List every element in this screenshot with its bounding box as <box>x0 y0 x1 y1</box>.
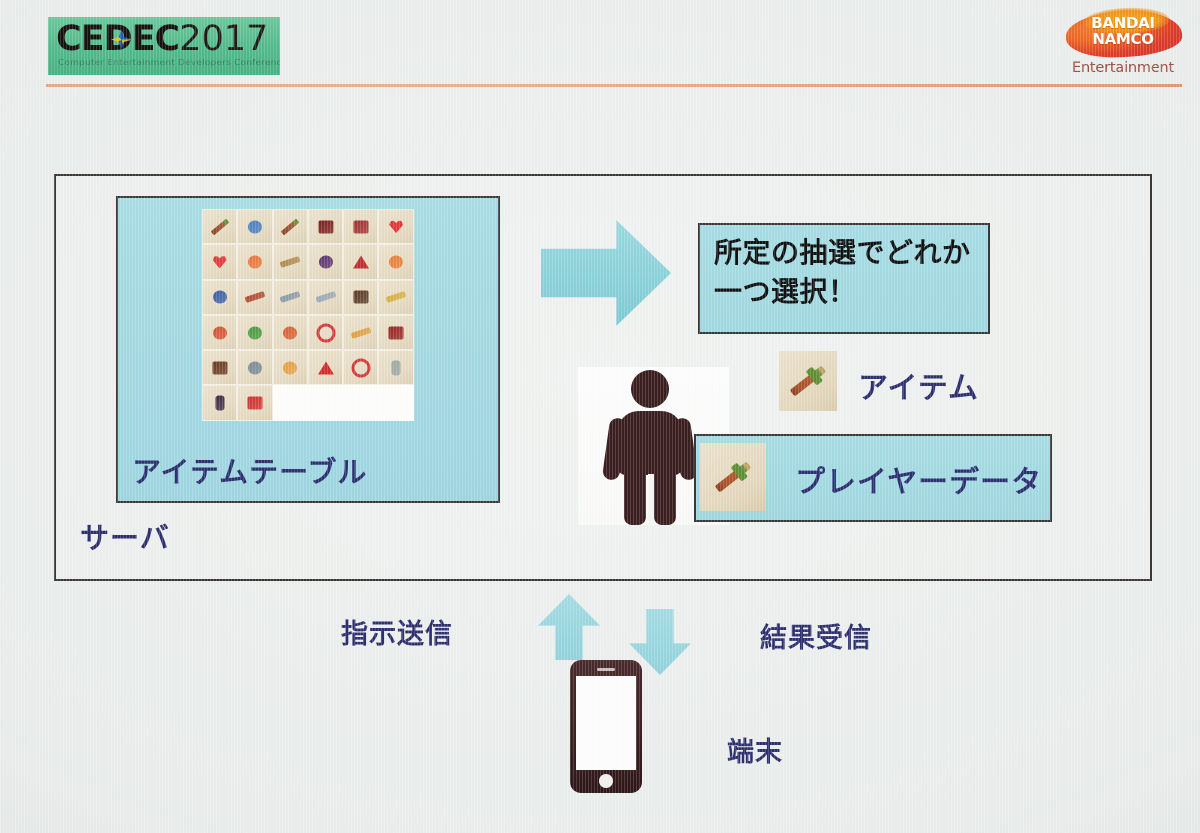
red-orb-cluster-icon <box>213 326 227 339</box>
arrow-shape <box>541 218 671 328</box>
item-cell-gray-tool <box>273 280 308 315</box>
dark-red-book-icon <box>318 220 333 233</box>
send-instruction-label: 指示送信 <box>341 612 453 651</box>
receive-result-label: 結果受信 <box>760 616 872 655</box>
selection-arrow-right-icon <box>541 218 671 328</box>
item-cell-heart <box>378 209 413 244</box>
item-cell-red-block <box>237 385 272 420</box>
item-cell-dark-vial <box>202 385 237 420</box>
item-cell-silver-rod <box>308 280 343 315</box>
bandai-namco-line2: NAMCO <box>1092 30 1153 48</box>
cedec-logo-year: 2017 <box>179 19 268 59</box>
brown-box-icon <box>353 291 368 304</box>
phone-speaker <box>597 668 615 671</box>
item-label: アイテム <box>858 363 979 407</box>
item-cell-red-curve <box>237 280 272 315</box>
green-orbs-icon <box>248 326 262 339</box>
presentation-slide: CEDEC2017 Computer Entertainment Develop… <box>0 0 1200 833</box>
item-cell-sword <box>202 209 237 244</box>
dark-vial-icon <box>215 396 224 411</box>
cedec-logo-tagline: Computer Entertainment Developers Confer… <box>58 58 273 67</box>
header-divider <box>46 84 1182 87</box>
sword-shape <box>715 462 751 493</box>
person-leg-right <box>654 468 676 525</box>
server-label: サーバ <box>80 515 170 557</box>
red-curve-icon <box>244 291 265 303</box>
bandai-namco-entertainment-label: Entertainment <box>1060 60 1186 76</box>
item-cell-red-orb-cluster <box>202 315 237 350</box>
phone-home-button <box>599 774 613 788</box>
item-cell-empty <box>308 385 343 420</box>
item-table-label: アイテムテーブル <box>132 449 367 491</box>
arrow-up-icon <box>538 594 600 660</box>
item-cell-silver-can <box>378 350 413 385</box>
bandai-namco-logo: BANDAI NAMCO Entertainment <box>1060 8 1186 80</box>
yellow-lamp-icon <box>283 361 297 374</box>
player-data-label: プレイヤーデータ <box>795 457 1042 501</box>
lottery-callout-text: 所定の抽選でどれか一つ選択！ <box>714 233 980 311</box>
red-block-icon <box>247 397 262 410</box>
item-cell-dumbbell <box>273 244 308 279</box>
smartphone-icon <box>570 660 642 793</box>
item-cell-dagger <box>273 209 308 244</box>
person-torso <box>617 411 683 475</box>
item-cell-orange-orb <box>237 244 272 279</box>
item-cell-gold-key <box>378 280 413 315</box>
bandai-namco-wordmark: BANDAI NAMCO <box>1060 16 1186 47</box>
item-sword-icon <box>779 351 837 411</box>
item-cell-red-ring <box>343 350 378 385</box>
dumbbell-icon <box>280 256 301 268</box>
item-cell-empty <box>378 385 413 420</box>
item-cell-red-glove <box>308 350 343 385</box>
item-cell-red-chest <box>378 315 413 350</box>
item-cell-gray-bottle <box>237 350 272 385</box>
item-cell-red-heart <box>202 244 237 279</box>
item-cell-yellow-lamp <box>273 350 308 385</box>
sword-shape <box>790 366 826 397</box>
item-cell-donut-ring <box>308 315 343 350</box>
red-ring-icon <box>351 358 370 377</box>
item-cell-blue-gem <box>237 209 272 244</box>
cedec-logo: CEDEC2017 Computer Entertainment Develop… <box>48 17 280 75</box>
lottery-callout-box: 所定の抽選でどれか一つ選択！ <box>698 223 990 334</box>
silver-rod-icon <box>315 291 336 303</box>
item-cell-dark-red-book <box>308 209 343 244</box>
blue-gem-icon <box>248 220 262 233</box>
red-heart-icon <box>213 255 227 268</box>
silver-can-icon <box>392 360 401 375</box>
item-cell-empty <box>343 385 378 420</box>
red-chest-icon <box>389 326 404 339</box>
item-table-panel: アイテムテーブル <box>116 196 500 503</box>
phone-screen <box>576 676 636 770</box>
player-person-icon <box>604 370 696 525</box>
person-leg-gap <box>648 474 654 526</box>
blue-stone-icon <box>213 291 227 304</box>
gray-bottle-icon <box>248 361 262 374</box>
gold-key-icon <box>386 291 407 303</box>
gray-tool-icon <box>280 291 301 303</box>
red-glove-icon <box>318 361 334 374</box>
wood-plank-icon <box>212 361 227 374</box>
item-cell-blue-stone <box>202 280 237 315</box>
item-cell-fruit-basket <box>273 315 308 350</box>
device-label: 端末 <box>727 730 783 769</box>
item-cell-green-orbs <box>237 315 272 350</box>
item-cell-red-book <box>343 209 378 244</box>
item-table-grid <box>202 209 414 421</box>
item-cell-empty <box>273 385 308 420</box>
orange-fruit-icon <box>389 255 403 268</box>
person-leg-left <box>624 468 646 525</box>
player-data-sword-icon <box>700 443 766 511</box>
gold-stick-icon <box>350 327 371 339</box>
dagger-icon <box>281 218 300 235</box>
cedec-logo-wordmark: CEDEC2017 <box>56 19 280 59</box>
item-cell-red-boomerang <box>343 244 378 279</box>
item-cell-wood-plank <box>202 350 237 385</box>
fruit-basket-icon <box>283 326 297 339</box>
item-cell-gold-stick <box>343 315 378 350</box>
item-cell-brown-box <box>343 280 378 315</box>
red-book-icon <box>353 220 368 233</box>
heart-icon <box>389 220 403 233</box>
red-boomerang-icon <box>353 255 369 268</box>
item-cell-purple-bomb <box>308 244 343 279</box>
person-head <box>631 370 669 408</box>
item-cell-orange-fruit <box>378 244 413 279</box>
donut-ring-icon <box>316 323 335 342</box>
sword-icon <box>210 218 229 235</box>
orange-orb-icon <box>248 255 262 268</box>
purple-bomb-icon <box>319 255 333 268</box>
